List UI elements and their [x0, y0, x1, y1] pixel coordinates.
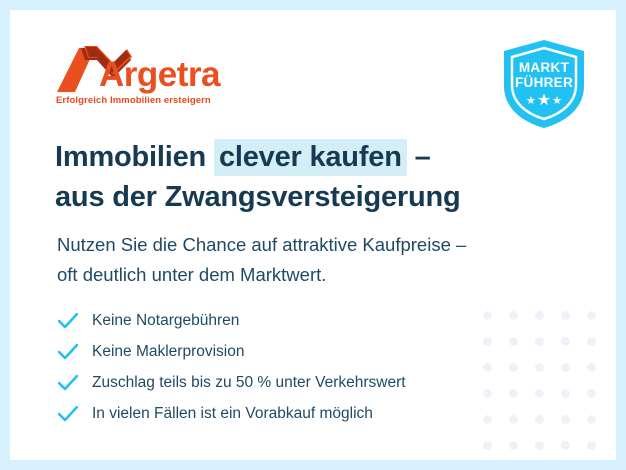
decorative-dot — [509, 337, 518, 346]
headline-suffix: – — [415, 141, 431, 173]
decorative-dot — [587, 441, 596, 450]
decorative-dot — [509, 363, 518, 372]
decorative-dot — [587, 415, 596, 424]
decorative-dot — [587, 311, 596, 320]
decorative-dot — [587, 363, 596, 372]
markt-fuehrer-badge: MARKT FÜHRER ★ ★ ★ — [500, 38, 588, 130]
decorative-dot — [509, 415, 518, 424]
decorative-dot — [561, 415, 570, 424]
shield-icon — [500, 38, 588, 130]
subheading-line-1: Nutzen Sie die Chance auf attraktive Kau… — [57, 230, 466, 260]
decorative-dot — [587, 389, 596, 398]
headline-line-2: aus der Zwangsversteigerung — [55, 177, 461, 217]
banner-frame: Argetra Erfolgreich Immobilien ersteiger… — [0, 0, 626, 470]
decorative-dot — [561, 441, 570, 450]
decorative-dot — [561, 337, 570, 346]
subheading: Nutzen Sie die Chance auf attraktive Kau… — [57, 230, 466, 290]
headline-highlight: clever kaufen — [214, 139, 407, 176]
headline-prefix: Immobilien — [55, 141, 206, 173]
decorative-dot — [483, 363, 492, 372]
decorative-dot — [535, 415, 544, 424]
decorative-dot — [535, 337, 544, 346]
list-item-label: Zuschlag teils bis zu 50 % unter Verkehr… — [84, 374, 406, 392]
list-item: Keine Maklerprovision — [58, 336, 406, 367]
list-item: In vielen Fällen ist ein Vorabkauf mögli… — [58, 398, 406, 429]
list-item: Zuschlag teils bis zu 50 % unter Verkehr… — [58, 367, 406, 398]
decorative-dot-grid — [474, 302, 604, 458]
logo[interactable]: Argetra Erfolgreich Immobilien ersteiger… — [55, 46, 240, 106]
decorative-dot — [483, 389, 492, 398]
logo-tagline: Erfolgreich Immobilien ersteigern — [56, 95, 240, 106]
decorative-dot — [535, 441, 544, 450]
list-item-label: In vielen Fällen ist ein Vorabkauf mögli… — [84, 405, 373, 423]
check-icon — [58, 311, 84, 331]
subheading-line-2: oft deutlich unter dem Marktwert. — [57, 260, 466, 290]
decorative-dot — [509, 389, 518, 398]
decorative-dot — [509, 311, 518, 320]
decorative-dot — [509, 441, 518, 450]
check-icon — [58, 404, 84, 424]
decorative-dot — [561, 311, 570, 320]
decorative-dot — [483, 441, 492, 450]
page-title: Immobilien clever kaufen – aus der Zwang… — [55, 137, 461, 217]
check-icon — [58, 342, 84, 362]
benefits-list: Keine NotargebührenKeine Maklerprovision… — [58, 305, 406, 429]
list-item: Keine Notargebühren — [58, 305, 406, 336]
decorative-dot — [535, 311, 544, 320]
logo-wordmark: Argetra — [99, 56, 220, 94]
check-icon — [58, 373, 84, 393]
decorative-dot — [535, 363, 544, 372]
decorative-dot — [483, 415, 492, 424]
decorative-dot — [561, 363, 570, 372]
logo-row: Argetra — [55, 46, 240, 94]
decorative-dot — [483, 311, 492, 320]
decorative-dot — [483, 337, 492, 346]
banner-card: Argetra Erfolgreich Immobilien ersteiger… — [10, 10, 616, 460]
decorative-dot — [561, 389, 570, 398]
list-item-label: Keine Maklerprovision — [84, 343, 245, 361]
headline-line-1: Immobilien clever kaufen – — [55, 137, 461, 177]
list-item-label: Keine Notargebühren — [84, 312, 239, 330]
decorative-dot — [535, 389, 544, 398]
decorative-dot — [587, 337, 596, 346]
